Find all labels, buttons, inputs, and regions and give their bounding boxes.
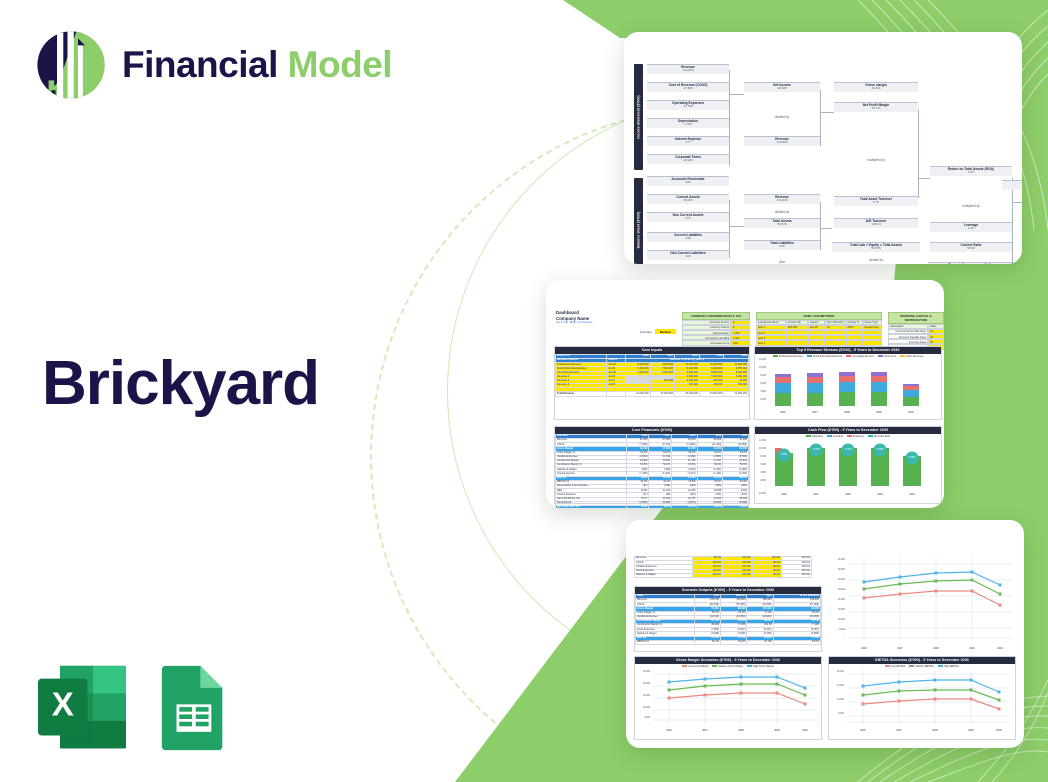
bar-2027 [807,373,823,406]
section-cash-flow: Cash Flow ($'000) - 5 Years to December … [754,426,942,504]
cell: Total Revenue [556,392,607,396]
section-core-financials-title: Core Financials ($'000) [555,427,749,434]
cell: 27,000,000 [650,392,675,396]
y-axis: 12,000 10,000 8,000 6,000 4,000 2,000 - [755,358,767,406]
gross-margin-plot: 25,000 20,000 15,000 10,000 5,000 - [635,668,821,732]
dupont-connector-mid-out [820,112,834,113]
cell: 34,500,000 [699,392,724,396]
dupont-node-roa: Return on Total Assets (ROA) 0.97 [930,166,1012,176]
bubble-net-cash-2030: 16,057 [906,451,919,464]
file-format-icons: X [36,664,228,752]
section-core-financials: Core Financials ($'000) Line Item 2026 2… [554,426,750,504]
cell [863,340,883,345]
dupont-connector-is [729,70,730,166]
dupont-operator-multiplied-2: multiplied by [930,204,1012,208]
y-axis: 25,000 20,000 15,000 10,000 5,000 - [635,668,651,724]
dupont-node-gross-margin: Gross margin 64.6% [834,82,918,92]
revenue-streams-plot: 12,000 10,000 8,000 6,000 4,000 2,000 - [755,358,941,414]
dupont-node-revenue-3: Revenue 134,800 [744,194,820,204]
bar-2028 [839,372,855,406]
google-sheets-icon[interactable] [158,664,228,752]
panel-debt-row: Item 4 [756,340,882,345]
dashboard-toc-link[interactable]: Go to the Table of Contents [556,321,592,325]
section-scenario-outputs: Scenario Outputs ($'000) - 5 Years to De… [634,586,822,652]
screenshot-card-dashboard[interactable]: Dashboard Company Name Go to the Table o… [546,280,944,508]
cell: 33,200,000 [675,392,700,396]
cell: 90.0% [752,573,781,577]
panel-currency-tax-rows: Currency Source$ Currency Output$ Denomi… [682,320,750,346]
cell: Corporate tax % [682,340,731,345]
dupont-operator-add: Add [744,260,820,264]
table-row: EBITDA %40.1%52.0%67.0%52.0% [636,640,821,644]
cell: 40.1% [694,640,720,644]
top-right-lines [848,558,1012,640]
cell: Item 4 [756,340,786,345]
cell: EBITDA % [636,640,695,644]
cell: 30% [731,340,750,345]
section-gross-margin-scenarios: Gross Margin Scenarios ($'000) - 5 Years… [634,656,822,740]
section-revenue-streams-title: Top 5 Revenue Streams ($'000) - 5 Years … [755,347,941,354]
dupont-tree: Income Statement ($'000) Balance Sheet (… [634,60,1016,240]
cell: 10,420 [697,505,723,508]
bar-2029 [871,372,887,406]
dupont-node-accounts-receivable: Accounts Receivable 948 [647,176,729,186]
dupont-node-depreciation: Depreciation 1,785 [647,118,729,128]
bubble-net-cash-2027: 10,378 [810,443,823,456]
dupont-node-revenue-2: Revenue 134,800 [744,136,820,146]
dupont-connector-roa-leverage [1012,178,1013,264]
cell: 10,765 [672,505,697,508]
dupont-connector-npm [918,110,919,198]
poster-canvas: Financial Model Brickyard X [0,0,1048,782]
cell: 8,351 [649,505,672,508]
cell: Net Profit After Tax [556,505,627,508]
bar-2030 [903,384,919,406]
cell: 12,831 [723,505,749,508]
cell [825,340,846,345]
brand-word-model: Model [288,44,392,85]
dupont-node-net-income: Net Income 48,828 [744,82,820,92]
dupont-connector-bs2-out [820,228,832,229]
table-row: Net Profit After Tax6,3118,35110,76510,4… [556,505,749,508]
cell [786,340,808,345]
panel-debt-header: DEBT ASSUMPTIONS [756,312,882,320]
dupont-connector-bs [729,200,730,258]
y-axis: 40,000 35,000 30,000 25,000 20,000 15,00… [830,556,846,642]
cell [846,340,863,345]
dupont-node-total-assets: Total Assets 50,576 [744,218,820,228]
scenario-outputs-table: Value Low Medium High Active (Medium) Re… [635,594,821,645]
scenario-label: Scenario [640,330,652,334]
cell: 21,000,000 [626,392,651,396]
dupont-connector-bs2 [820,202,821,250]
section-core-inputs-title: Core Inputs [555,347,749,354]
dupont-node-leverage: Leverage 1.0% [930,222,1012,232]
brand-wordmark: Financial Model [122,44,392,86]
page-title: Brickyard [42,348,319,419]
dupont-side-income-statement: Income Statement ($'000) [634,64,643,170]
dupont-operator-divided-1: divided by [744,115,820,119]
dupont-connector-roe-in [1012,202,1022,203]
cell: 52.0% [721,640,747,644]
dupont-node-current-assets: Current Assets 50,006 [647,194,729,204]
bubble-net-cash-2029: 10,588 [874,443,887,456]
dupont-node-total-liab-equity: Total Liab + Equity = Total Assets 50,57… [832,242,920,252]
svg-text:X: X [52,685,74,722]
scenario-value[interactable]: Medium [655,329,676,334]
dupont-node-current-ratio: Current Ratio 58.98 [930,242,1012,252]
dupont-connector-bs-out [729,226,744,227]
cell: 67.0% [747,640,773,644]
dupont-node-opex: Operating Expenses 17,758 [647,100,729,110]
table-row: Salaries & Wages105.0%100.0%90.0%100.0% [635,573,812,577]
section-ebitda-title: EBITDA Scenarios ($'000) - 5 Years to De… [829,657,1015,664]
cell: Salaries & Wages [635,573,693,577]
cell: 6,311 [626,505,649,508]
dupont-node-ar-turnover: A/R Turnover 146.24 [834,218,918,228]
dashboard-scenario-selector[interactable]: Scenario Medium [640,329,676,334]
gross-margin-lines [653,670,817,724]
panel-debt-assumptions: DEBT ASSUMPTIONS Loan/Grant Name Amount … [756,312,882,346]
financial-model-circle-logo-icon [36,30,106,100]
dashboard-heading: Dashboard Company Name Go to the Table o… [556,310,592,325]
cell: 52.0% [773,640,820,644]
dupont-node-total-asset-turnover: Total Asset Turnover 2.70 [834,196,918,206]
dashboard-sheet: Dashboard Company Name Go to the Table o… [554,310,936,480]
dupont-roe-wrapper: Return on Equity (ROE) 61.03 [1002,180,1022,190]
scenario-top-right-chart: 40,000 35,000 30,000 25,000 20,000 15,00… [830,556,1016,650]
bubble-net-cash-2028: 10,755 [842,443,855,456]
dupont-operator-divided-2: divided by [744,210,820,214]
core-financials-table: Line Item 2026 2027 2028 2029 2030 Reven… [555,434,749,508]
y-axis: 12,000 10,000 8,000 6,000 4,000 2,000 - … [755,438,767,490]
cell [808,340,825,345]
top-right-plot: 40,000 35,000 30,000 25,000 20,000 15,00… [830,556,1016,650]
dupont-operator-multiplied-1: multiplied by [834,158,918,162]
dupont-node-current-liabilities: Current Liabilities 448 [647,232,729,242]
dupont-connector-is-out [729,94,744,95]
dupont-node-roe-final: Return on Equity (ROE) 61.03 [1002,180,1022,190]
y-axis: 20,000 15,000 10,000 5,000 - [829,668,845,724]
section-gross-margin-title: Gross Margin Scenarios ($'000) - 5 Years… [635,657,821,664]
brand-word-financial: Financial [122,44,278,85]
excel-icon[interactable]: X [36,664,128,752]
section-ebitda-scenarios: EBITDA Scenarios ($'000) - 5 Years to De… [828,656,1016,740]
dupont-connector-mid [820,90,821,146]
section-cash-flow-title: Cash Flow ($'000) - 5 Years to December … [755,427,941,434]
dupont-node-cogs: Cost of Revenue (COGS) 47,680 [647,82,729,92]
dupont-side-balance-sheet: Balance Sheet ($'000) [634,178,643,264]
panel-wc-header: WORKING CAPITAL & DEPRECIATION [888,312,944,324]
cell: 100.0% [722,573,752,577]
dupont-node-non-current-liabilities: Non Current Liabilities 100 [647,250,729,260]
section-core-inputs: Core Inputs Fixed Cost 2026 2027 2028 20… [554,346,750,420]
cell [607,392,626,396]
core-inputs-table: Fixed Cost 2026 2027 2028 2029 2030 Reve… [555,354,749,397]
cell: 100.0% [782,573,812,577]
ebitda-lines [847,670,1011,724]
dupont-connector-roa-in [918,178,930,179]
screenshot-card-dupont-analysis[interactable]: Income Statement ($'000) Balance Sheet (… [624,32,1022,264]
panel-working-capital: WORKING CAPITAL & DEPRECIATION Assumptio… [888,312,944,350]
cell: 105.0% [693,573,723,577]
ebitda-plot: 20,000 15,000 10,000 5,000 - [829,668,1015,732]
screenshot-card-scenario-analysis[interactable]: Revenue85.0%100.0%110.0%100.0% COGS105.0… [626,520,1024,748]
dupont-node-net-profit-margin: Net Profit Margin 35.7% [834,102,918,112]
scenario-sheet: Revenue85.0%100.0%110.0%100.0% COGS105.0… [634,556,1016,718]
section-scenario-outputs-title: Scenario Outputs ($'000) - 5 Years to De… [635,587,821,594]
bubble-net-cash-2026: 8,034 [778,448,791,461]
panel-currency-tax-header: CURRENCY DENOMINATION & TAX [682,312,750,320]
bar-2026 [775,374,791,406]
dupont-node-revenue: Revenue 134,800 [647,64,729,74]
dupont-node-interest-expense: Interest Expense 177 [647,136,729,146]
panel-currency-tax: CURRENCY DENOMINATION & TAX Currency Sou… [682,312,750,346]
cash-flow-plot: 12,000 10,000 8,000 6,000 4,000 2,000 - … [755,438,941,498]
dupont-node-non-current-assets: Non Current Assets 570 [647,212,729,222]
table-row-total: Total Revenue21,000,00027,000,00033,200,… [556,392,749,396]
cell: 41,250,000 [724,392,749,396]
dupont-operator-divided-3: divided by [832,258,920,262]
section-revenue-streams: Top 5 Revenue Streams ($'000) - 5 Years … [754,346,942,420]
dupont-node-total-liabilities: Total Liabilities 548 [744,240,820,250]
dupont-node-financial-leverage-multiplier: Financial Leverage multiplier 60.22 [928,262,1014,264]
brand-logo: Financial Model [36,30,392,100]
scenario-assumptions-table: Revenue85.0%100.0%110.0%100.0% COGS105.0… [634,556,812,578]
dupont-node-corporate-taxes: Corporate Taxes 20,926 [647,154,729,164]
